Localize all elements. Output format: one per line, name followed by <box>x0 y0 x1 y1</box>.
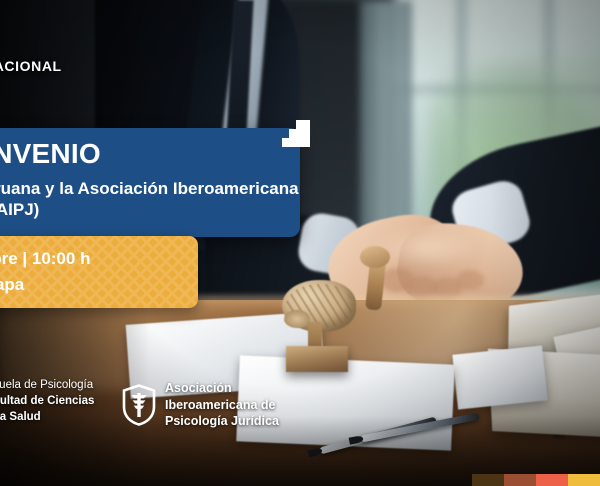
kicker-text: INTERNACIONAL <box>0 58 62 74</box>
knuckle <box>456 270 484 290</box>
step-block <box>289 129 310 138</box>
swatch-sienna <box>504 474 536 486</box>
hand-highlight <box>372 228 482 268</box>
subtitle-line-2: de Psicología Jurídica (AIPJ) <box>0 199 284 221</box>
university-line-1: Escuela de Psicología <box>0 378 94 394</box>
university-line-3: de la Salud <box>0 410 94 426</box>
aipj-line-3: Psicología Jurídica <box>165 413 279 430</box>
aipj-logo: Asociación Iberoamericana de Psicología … <box>122 380 279 430</box>
brain-cerebellum <box>284 310 310 328</box>
subtitle-line-1: entre la Universidad Peruana y la Asocia… <box>0 178 284 200</box>
poster-canvas: INTERNACIONAL FIRMA DE CONVENIO entre la… <box>0 0 600 486</box>
pixel-steps-decoration <box>282 120 310 154</box>
swatch-gold <box>568 474 600 486</box>
color-swatch-strip <box>472 474 600 486</box>
step-block <box>296 120 310 129</box>
university-line-2: Facultad de Ciencias <box>0 394 94 410</box>
gavel-head <box>360 246 390 268</box>
event-location: Vía Zoom | Campus Larapa <box>0 272 182 298</box>
event-datetime: Miércoles 18 de setiembre | 10:00 h <box>0 246 182 272</box>
swatch-dark-brown <box>472 474 504 486</box>
page-title: FIRMA DE CONVENIO <box>0 140 284 169</box>
swatch-coral <box>536 474 568 486</box>
aipj-line-2: Iberoamericana de <box>165 397 279 414</box>
title-subtitle: entre la Universidad Peruana y la Asocia… <box>0 178 284 222</box>
university-logo-text: Escuela de Psicología Facultad de Cienci… <box>0 378 94 426</box>
yellow-details-band: Miércoles 18 de setiembre | 10:00 h Vía … <box>0 236 198 308</box>
blue-title-band: FIRMA DE CONVENIO entre la Universidad P… <box>0 128 300 237</box>
university-logo: Escuela de Psicología Facultad de Cienci… <box>0 378 94 426</box>
aipj-logo-text: Asociación Iberoamericana de Psicología … <box>165 380 279 430</box>
aipj-line-1: Asociación <box>165 380 279 397</box>
step-block <box>282 138 310 147</box>
footer-logos: Escuela de Psicología Facultad de Cienci… <box>0 378 600 444</box>
brain-sculpture-base <box>286 346 348 372</box>
aipj-shield-icon <box>122 384 156 426</box>
